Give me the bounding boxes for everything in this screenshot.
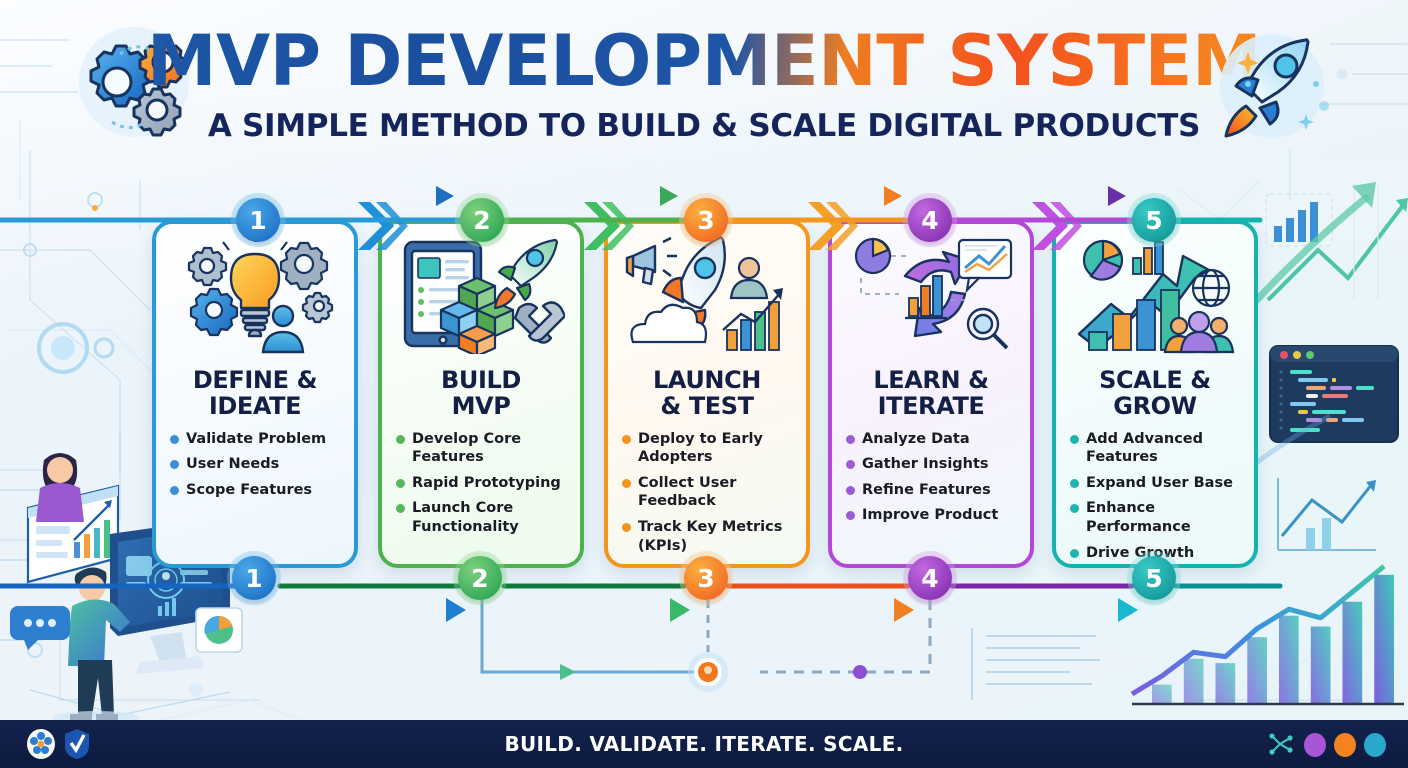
stage-card-build-mvp[interactable]: BUILD MVP Develop Core Features Rapid Pr… [378, 220, 584, 568]
tablet-blocks-wrench-rocket-icon [382, 224, 580, 364]
bullet-text: Develop Core Features [412, 430, 572, 467]
bullet-text: Collect User Feedback [638, 474, 798, 511]
stage-title-line1: DEFINE & [162, 368, 348, 394]
stage-card-define-ideate[interactable]: DEFINE & IDEATE Validate Problem User Ne… [152, 220, 358, 568]
chart-bar [1279, 616, 1299, 704]
bullet-dot [396, 435, 405, 444]
stage-title-line1: LAUNCH [614, 368, 800, 394]
list-item: Gather Insights [846, 455, 1022, 474]
header: MVP DEVELOPMENT SYSTEM A SIMPLE METHOD T… [0, 0, 1408, 160]
bullet-text: Expand User Base [1086, 474, 1233, 493]
chart-bar [1374, 575, 1394, 704]
stage-title: BUILD MVP [382, 364, 580, 428]
infographic-canvas: MVP DEVELOPMENT SYSTEM A SIMPLE METHOD T… [0, 0, 1408, 768]
stage-badge-bottom-1[interactable]: 1 [232, 556, 276, 600]
refresh-loop-analytics-icon [832, 224, 1030, 364]
bullet-text: Analyze Data [862, 430, 970, 449]
bullet-text: Add Advanced Features [1086, 430, 1246, 467]
stage-title-line2: MVP [388, 394, 574, 420]
bullet-dot [846, 511, 855, 520]
chart-bar [1216, 663, 1236, 704]
stage-badge-bottom-2[interactable]: 2 [458, 556, 502, 600]
chart-bar [1247, 637, 1267, 704]
stage-bullets: Analyze Data Gather Insights Refine Feat… [832, 428, 1030, 532]
footer-dot-teal [1364, 733, 1386, 757]
chevron-connector-2-3 [578, 196, 634, 256]
stage-badge-bottom-5[interactable]: 5 [1132, 556, 1176, 600]
stage-bullets: Add Advanced Features Expand User Base E… [1056, 428, 1254, 568]
stage-badge-bottom-4[interactable]: 4 [908, 556, 952, 600]
list-item: Rapid Prototyping [396, 474, 572, 493]
bullet-text: Rapid Prototyping [412, 474, 561, 493]
network-nodes-icon [1268, 732, 1296, 758]
stage-badge-top-3[interactable]: 3 [684, 198, 728, 242]
list-item: User Needs [170, 455, 346, 474]
bullet-dot [1070, 504, 1079, 513]
growth-chart-globe-users-icon [1056, 224, 1254, 364]
bullet-dot [1070, 479, 1079, 488]
chevron-connector-1-2 [352, 196, 408, 256]
list-item: Track Key Metrics (KPIs) [622, 518, 798, 555]
bullet-dot [846, 460, 855, 469]
bullet-text: Deploy to Early Adopters [638, 430, 798, 467]
list-item: Validate Problem [170, 430, 346, 449]
stage-title-line2: & TEST [614, 394, 800, 420]
bullet-dot [170, 435, 179, 444]
list-item: Expand User Base [1070, 474, 1246, 493]
bullet-text: User Needs [186, 455, 279, 474]
stage-title-line2: GROW [1062, 394, 1248, 420]
footer-dot-purple [1304, 733, 1326, 757]
chevron-connector-3-4 [802, 196, 858, 256]
chart-bar [1311, 627, 1331, 705]
bullet-dot [622, 479, 631, 488]
stage-bullets: Deploy to Early Adopters Collect User Fe… [608, 428, 806, 562]
bullet-text: Scope Features [186, 481, 312, 500]
bullet-text: Enhance Performance [1086, 499, 1246, 536]
lightbulb-gears-person-icon [156, 224, 354, 364]
bullet-dot [170, 486, 179, 495]
chart-bar [1343, 602, 1363, 704]
list-item: Deploy to Early Adopters [622, 430, 798, 467]
bullet-text: Validate Problem [186, 430, 326, 449]
bullet-text: Launch Core Functionality [412, 499, 572, 536]
stage-title-line1: SCALE & [1062, 368, 1248, 394]
stage-badge-top-1[interactable]: 1 [236, 198, 280, 242]
bullet-text: Refine Features [862, 481, 991, 500]
stage-card-scale-grow[interactable]: SCALE & GROW Add Advanced Features Expan… [1052, 220, 1258, 568]
chevron-connector-4-5 [1026, 196, 1082, 256]
stage-badge-top-5[interactable]: 5 [1132, 198, 1176, 242]
bullet-text: Track Key Metrics (KPIs) [638, 518, 798, 555]
footer: BUILD. VALIDATE. ITERATE. SCALE. [0, 720, 1408, 768]
shield-check-logo [64, 728, 90, 760]
stage-badge-bottom-3[interactable]: 3 [684, 556, 728, 600]
rocket-icon [1206, 18, 1338, 146]
bullet-dot [396, 479, 405, 488]
rocket-megaphone-chart-icon [608, 224, 806, 364]
bullet-dot [846, 486, 855, 495]
stage-title-line1: BUILD [388, 368, 574, 394]
chart-bar [1152, 685, 1172, 704]
bullet-dot [170, 460, 179, 469]
list-item: Develop Core Features [396, 430, 572, 467]
stage-cards: DEFINE & IDEATE Validate Problem User Ne… [0, 186, 1408, 586]
stage-title: SCALE & GROW [1056, 364, 1254, 428]
footer-dot-orange [1334, 733, 1356, 757]
bullet-text: Improve Product [862, 506, 998, 525]
footer-dots [1268, 732, 1386, 758]
stage-bullets: Validate Problem User Needs Scope Featur… [156, 428, 354, 507]
list-item: Add Advanced Features [1070, 430, 1246, 467]
list-item: Enhance Performance [1070, 499, 1246, 536]
chart-bar [1184, 659, 1204, 704]
stage-title-line2: IDEATE [162, 394, 348, 420]
list-item: Collect User Feedback [622, 474, 798, 511]
footer-logos [26, 728, 90, 760]
bullet-dot [396, 504, 405, 513]
list-item: Launch Core Functionality [396, 499, 572, 536]
bullet-text: Gather Insights [862, 455, 989, 474]
stage-bullets: Develop Core Features Rapid Prototyping … [382, 428, 580, 544]
flower-badge-logo [26, 728, 56, 760]
list-item: Scope Features [170, 481, 346, 500]
bullet-dot [622, 523, 631, 532]
stage-title: LAUNCH & TEST [608, 364, 806, 428]
stage-title-line2: ITERATE [838, 394, 1024, 420]
footer-tagline: BUILD. VALIDATE. ITERATE. SCALE. [504, 732, 903, 756]
bullet-dot [622, 435, 631, 444]
page-title: MVP DEVELOPMENT SYSTEM [0, 26, 1408, 96]
list-item: Improve Product [846, 506, 1022, 525]
bullet-dot [846, 435, 855, 444]
list-item: Refine Features [846, 481, 1022, 500]
bullet-dot [1070, 435, 1079, 444]
stage-title: DEFINE & IDEATE [156, 364, 354, 428]
stage-card-learn-iterate[interactable]: LEARN & ITERATE Analyze Data Gather Insi… [828, 220, 1034, 568]
stage-title: LEARN & ITERATE [832, 364, 1030, 428]
list-item: Analyze Data [846, 430, 1022, 449]
stage-badge-top-4[interactable]: 4 [908, 198, 952, 242]
bullet-dot [1070, 549, 1079, 558]
stage-title-line1: LEARN & [838, 368, 1024, 394]
page-subtitle: A SIMPLE METHOD TO BUILD & SCALE DIGITAL… [0, 108, 1408, 144]
stage-badge-top-2[interactable]: 2 [460, 198, 504, 242]
stage-card-launch-test[interactable]: LAUNCH & TEST Deploy to Early Adopters C… [604, 220, 810, 568]
